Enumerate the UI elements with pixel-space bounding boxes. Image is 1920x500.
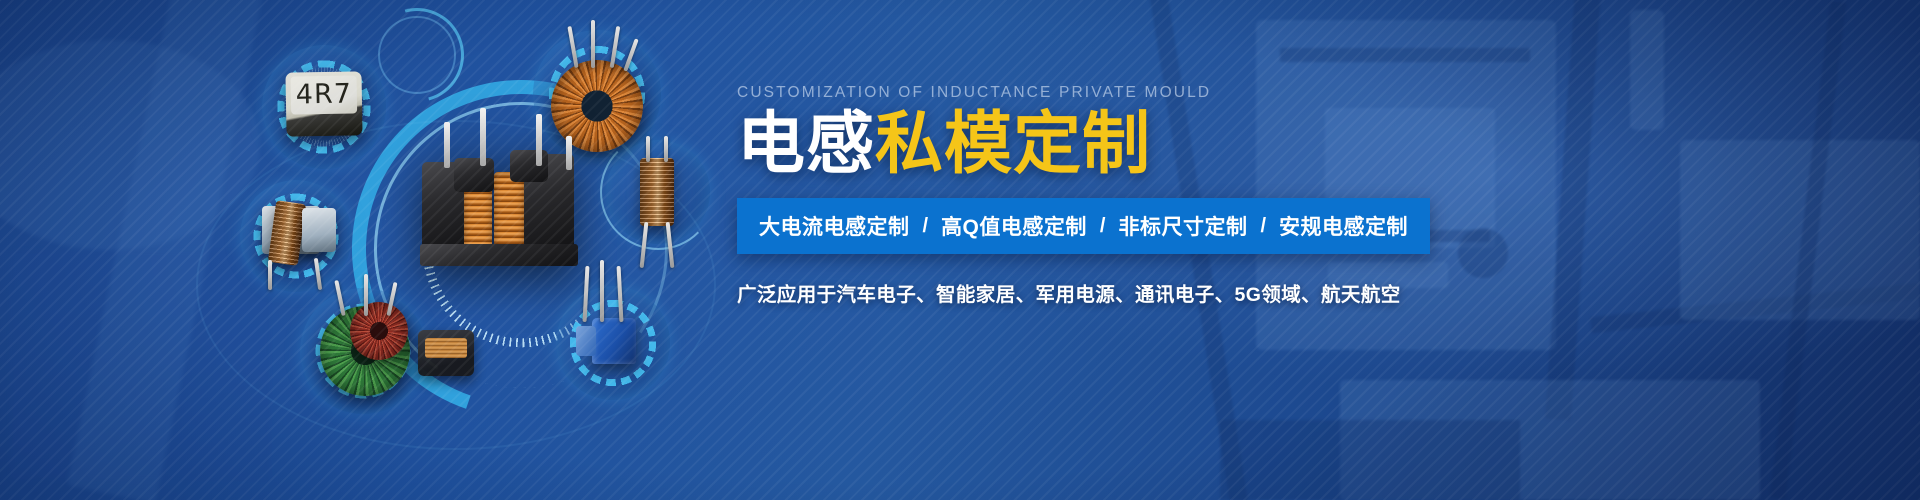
feature-item-1[interactable]: 大电流电感定制 [759, 211, 910, 241]
title-part-yellow: 私模定制 [875, 106, 1151, 182]
product-blue-radial-inductor [592, 318, 636, 364]
product-drum-core-inductor [418, 330, 474, 376]
feature-item-3[interactable]: 非标尺寸定制 [1118, 211, 1247, 241]
product-smd-power-inductor: 4R7 [286, 72, 362, 136]
banner-tagline: 广泛应用于汽车电子、智能家居、军用电源、通讯电子、5G领域、航天航空 [737, 278, 1377, 307]
product-rod-core-inductor [640, 158, 674, 226]
feature-item-2[interactable]: 高Q值电感定制 [941, 211, 1087, 241]
title-part-white: 电感 [737, 106, 875, 182]
smd-marking-label: 4R7 [286, 78, 363, 110]
product-common-mode-choke-cluster [418, 140, 588, 270]
feature-separator-2: / [1087, 215, 1119, 238]
product-banner: 4R7 [0, 0, 1920, 500]
feature-separator-1: / [910, 215, 942, 238]
product-toroidal-common-mode-choke [551, 60, 643, 152]
product-color-ring-toroid [320, 306, 410, 396]
feature-bar: 大电流电感定制 / 高Q值电感定制 / 非标尺寸定制 / 安规电感定制 [737, 198, 1430, 254]
banner-copy: CUSTOMIZATION OF INDUCTANCE PRIVATE MOUL… [737, 84, 1377, 307]
feature-item-4[interactable]: 安规电感定制 [1279, 211, 1408, 241]
banner-eyebrow: CUSTOMIZATION OF INDUCTANCE PRIVATE MOUL… [737, 84, 1377, 102]
feature-separator-3: / [1247, 215, 1279, 238]
page-title: 电感私模定制 [737, 110, 1377, 178]
